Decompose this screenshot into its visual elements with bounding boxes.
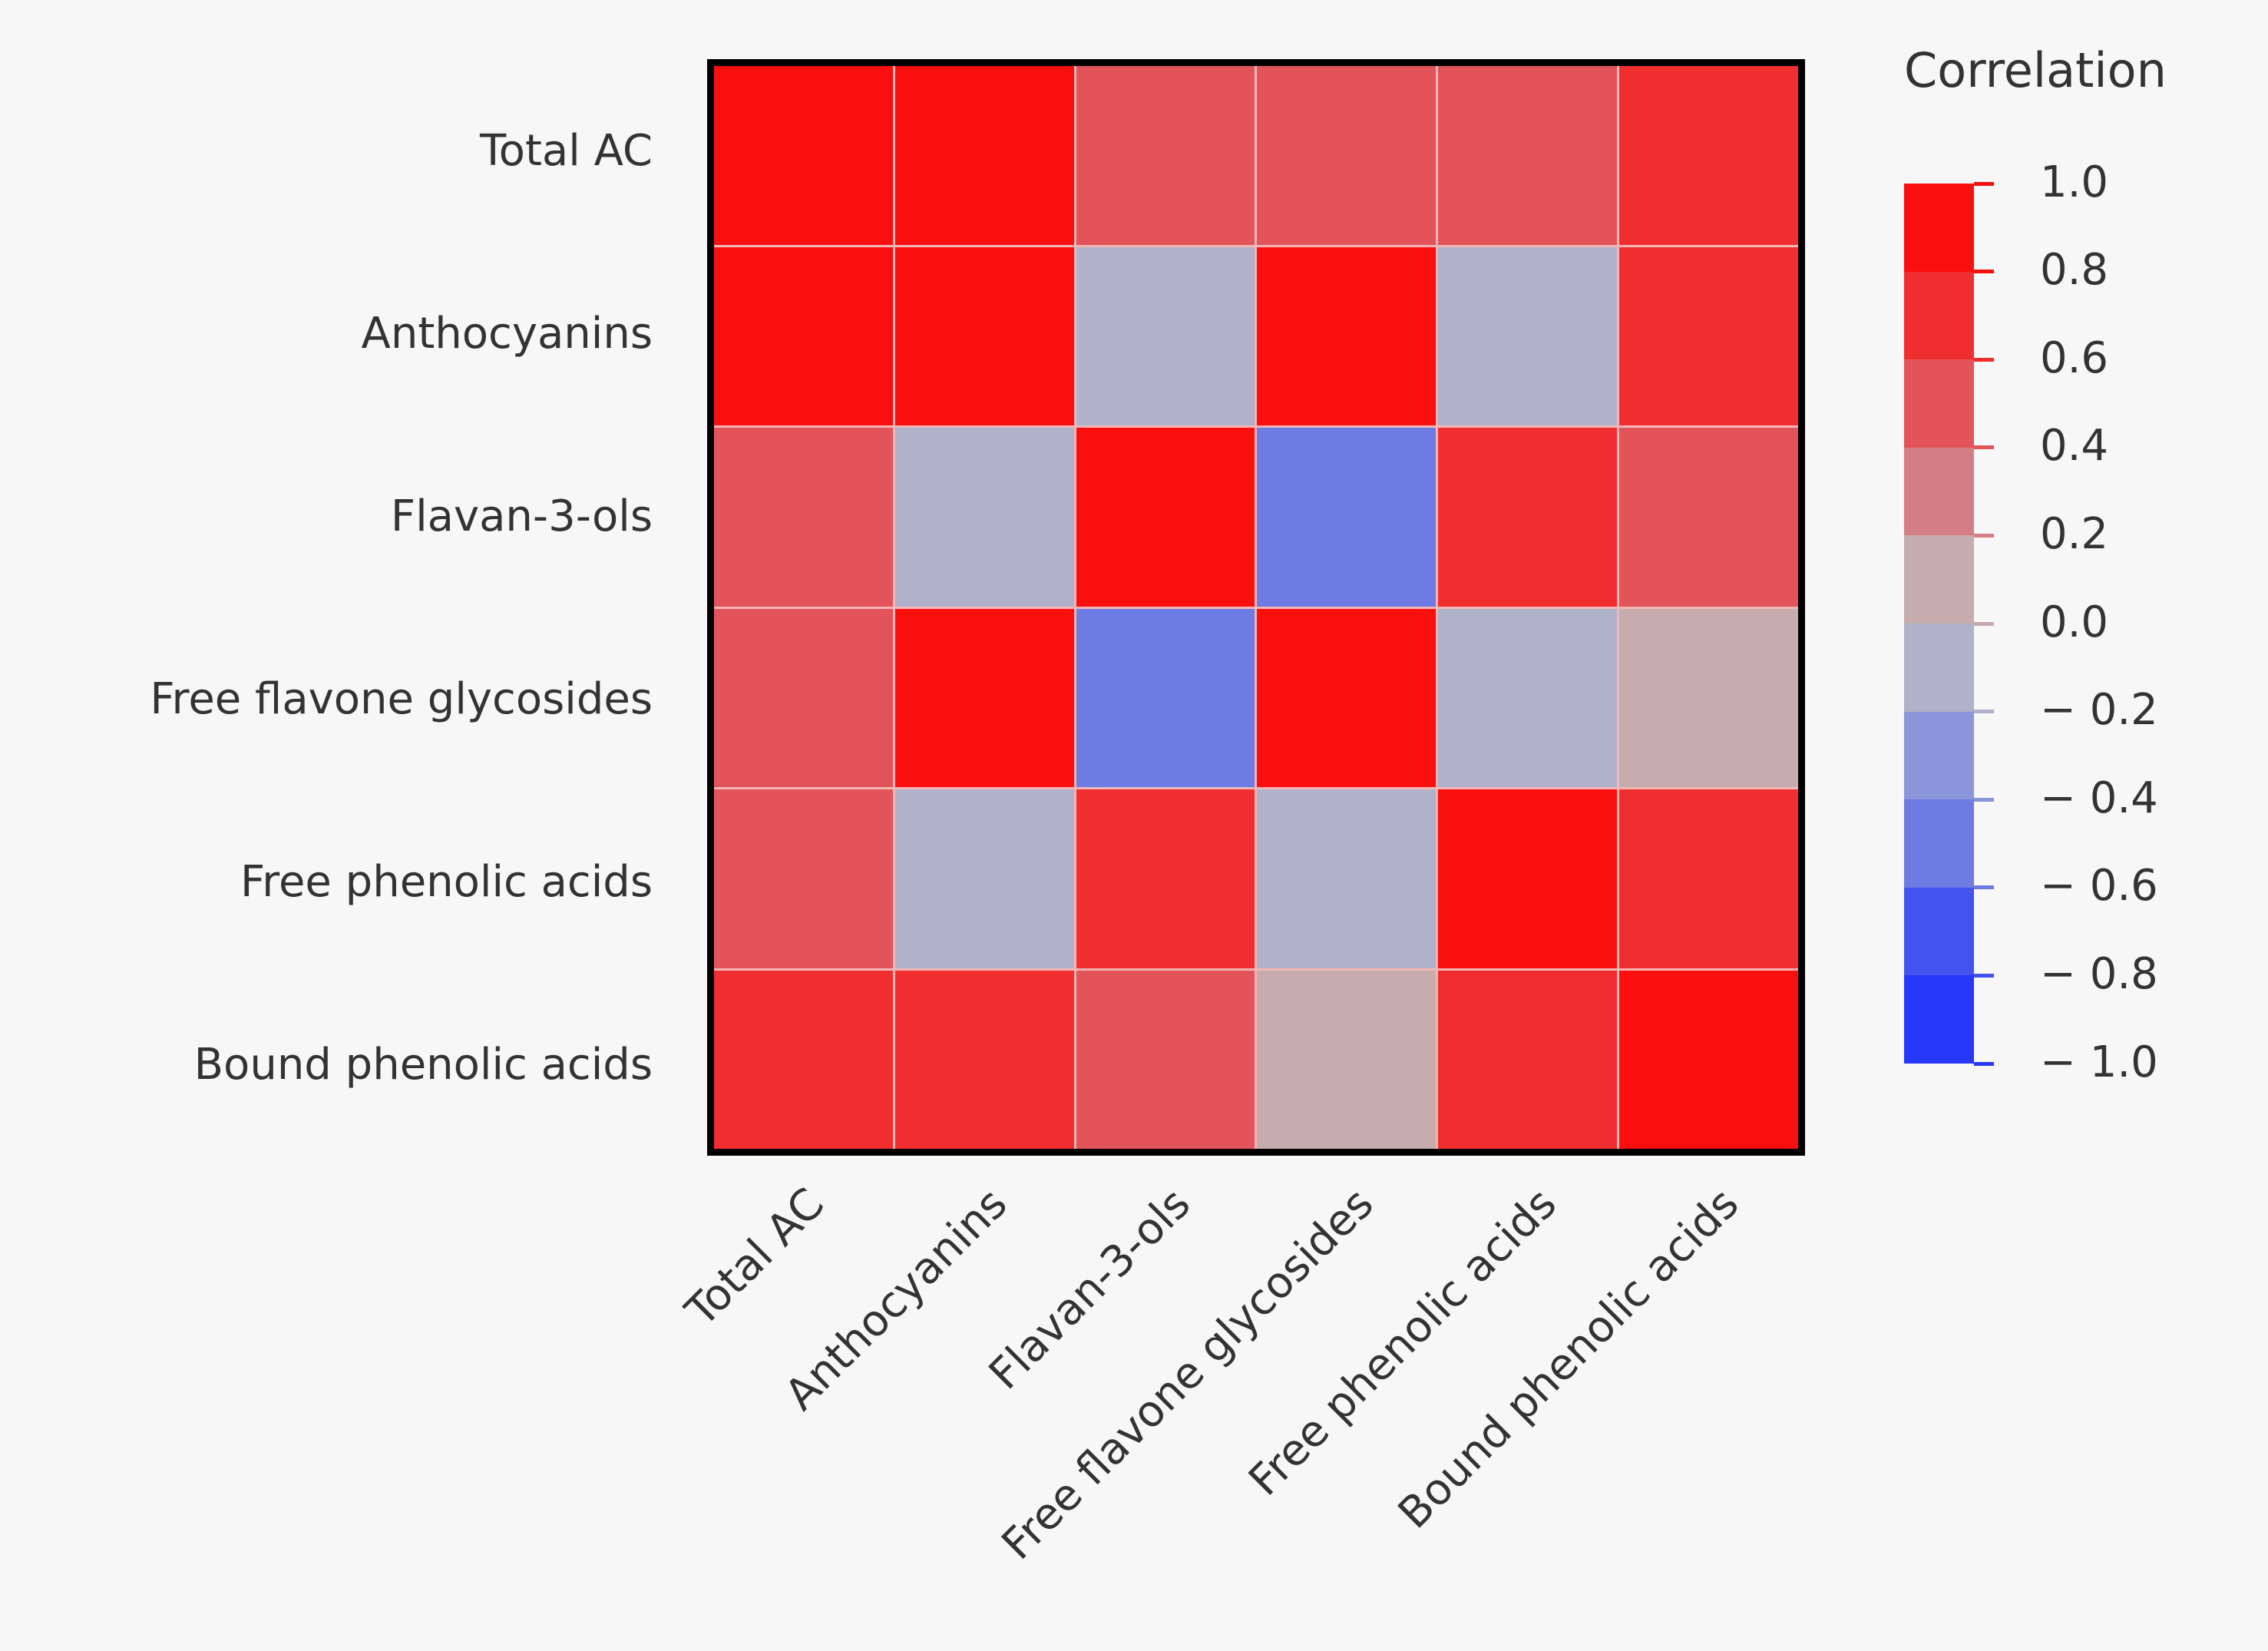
heatmap-cell — [1619, 609, 1798, 788]
heatmap-cell — [895, 428, 1074, 607]
y-tick-label: Free flavone glycosides — [0, 607, 680, 790]
colorbar-tick-text: − 0.8 — [2040, 949, 2158, 999]
y-axis: Total ACAnthocyaninsFlavan-3-olsFree fla… — [0, 59, 680, 1156]
heatmap-cell — [895, 789, 1074, 968]
colorbar-tick-mark — [1974, 885, 1994, 889]
heatmap-grid — [714, 66, 1798, 1149]
heatmap-cell — [1438, 789, 1617, 968]
colorbar-band — [1904, 712, 1974, 800]
colorbar-tick-text: 0.0 — [2040, 597, 2108, 647]
heatmap-cell — [1076, 247, 1255, 426]
heatmap-cell — [1438, 247, 1617, 426]
heatmap-cell — [895, 609, 1074, 788]
colorbar-tick-labels: 1.00.80.60.40.20.0− 0.2− 0.4− 0.6− 0.8− … — [1974, 184, 2258, 1064]
heatmap-cell — [1619, 789, 1798, 968]
heatmap-plot-area — [707, 59, 1805, 1156]
heatmap-cell — [1076, 66, 1255, 245]
heatmap-cell — [1076, 789, 1255, 968]
x-tick-label: Free phenolic acids — [1239, 1179, 1566, 1506]
colorbar-band — [1904, 272, 1974, 360]
colorbar-tick-text: 0.8 — [2040, 245, 2108, 295]
colorbar-tick-text: − 0.6 — [2040, 861, 2158, 911]
colorbar-tick-text: − 0.2 — [2040, 685, 2158, 735]
colorbar-band — [1904, 624, 1974, 712]
heatmap-cell — [1619, 971, 1798, 1150]
y-tick-label: Free phenolic acids — [0, 790, 680, 973]
heatmap-cell — [1257, 247, 1436, 426]
colorbar-tick-text: 0.2 — [2040, 509, 2108, 559]
colorbar-tick-mark — [1974, 622, 1994, 626]
heatmap-cell — [895, 247, 1074, 426]
colorbar-tick-text: − 0.4 — [2040, 773, 2158, 823]
heatmap-cell — [1257, 66, 1436, 245]
colorbar-tick-mark — [1974, 534, 1994, 538]
colorbar-tick-mark — [1974, 798, 1994, 802]
heatmap-cell — [1438, 609, 1617, 788]
colorbar-tick-text: 1.0 — [2040, 157, 2108, 207]
heatmap-cell — [895, 971, 1074, 1150]
colorbar-tick-mark — [1974, 270, 1994, 273]
y-tick-label: Bound phenolic acids — [0, 973, 680, 1156]
heatmap-cell — [1619, 428, 1798, 607]
heatmap-cell — [714, 609, 893, 788]
colorbar-tick-mark — [1974, 974, 1994, 978]
colorbar-tick-mark — [1974, 358, 1994, 362]
colorbar-band — [1904, 448, 1974, 536]
colorbar-tick-text: − 1.0 — [2040, 1037, 2158, 1087]
colorbar-band — [1904, 975, 1974, 1064]
colorbar-tick-text: 0.6 — [2040, 333, 2108, 383]
heatmap-cell — [1257, 428, 1436, 607]
heatmap-cell — [1076, 428, 1255, 607]
y-tick-label: Total AC — [0, 59, 680, 242]
heatmap-cell — [714, 789, 893, 968]
colorbar-band — [1904, 359, 1974, 448]
colorbar-gradient — [1904, 184, 1974, 1064]
heatmap-cell — [1257, 609, 1436, 788]
x-tick-label: Total AC — [676, 1179, 834, 1336]
heatmap-cell — [1257, 789, 1436, 968]
heatmap-cell — [714, 66, 893, 245]
colorbar-legend: Correlation 1.00.80.60.40.20.0− 0.2− 0.4… — [1904, 42, 2265, 1117]
heatmap-cell — [1619, 247, 1798, 426]
heatmap-cell — [714, 428, 893, 607]
heatmap-cell — [1438, 66, 1617, 245]
colorbar-band — [1904, 888, 1974, 976]
colorbar-tick-mark — [1974, 445, 1994, 449]
heatmap-cell — [1076, 971, 1255, 1150]
y-tick-label: Flavan-3-ols — [0, 425, 680, 607]
heatmap-cell — [895, 66, 1074, 245]
heatmap-cell — [1438, 971, 1617, 1150]
heatmap-cell — [1438, 428, 1617, 607]
colorbar-tick-text: 0.4 — [2040, 421, 2108, 471]
heatmap-cell — [1257, 971, 1436, 1150]
x-tick-label: Free flavone glycosides — [992, 1179, 1383, 1570]
colorbar-band — [1904, 535, 1974, 624]
heatmap-cell — [714, 971, 893, 1150]
colorbar-title: Correlation — [1904, 42, 2167, 98]
x-axis: Total ACAnthocyaninsFlavan-3-olsFree fla… — [707, 1156, 1805, 1616]
heatmap-cell — [714, 247, 893, 426]
heatmap-cell — [1619, 66, 1798, 245]
colorbar-band — [1904, 799, 1974, 888]
colorbar-band — [1904, 184, 1974, 272]
colorbar-tick-mark — [1974, 182, 1994, 186]
colorbar-tick-mark — [1974, 710, 1994, 713]
colorbar-tick-mark — [1974, 1062, 1994, 1066]
y-tick-label: Anthocyanins — [0, 242, 680, 425]
x-tick-label: Bound phenolic acids — [1389, 1179, 1748, 1538]
heatmap-cell — [1076, 609, 1255, 788]
